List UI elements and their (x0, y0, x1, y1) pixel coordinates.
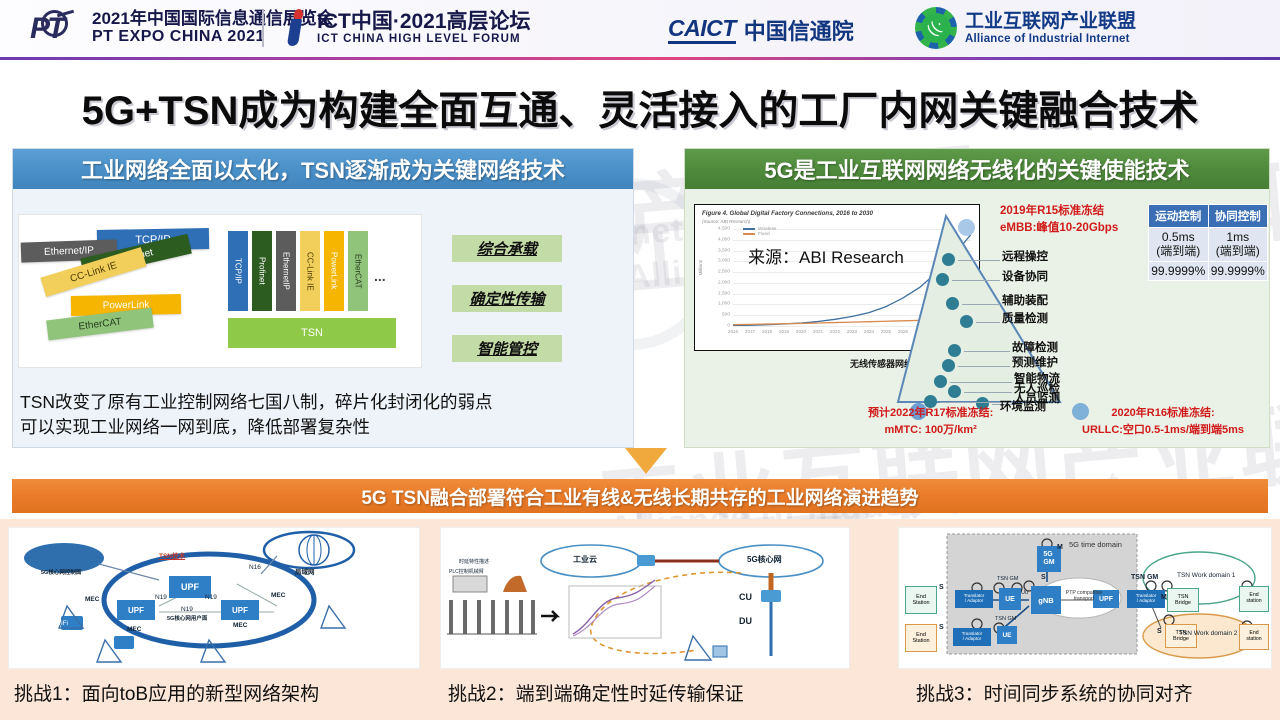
triangle-node-1 (942, 253, 955, 266)
stack-col-ellipsis: ... (374, 268, 386, 284)
chart-xtick: 2024 (864, 329, 874, 334)
chart-ytick: 1,500 (718, 291, 730, 296)
diagram-time-sync: 5GGM gNB UE UE UPF Translator/ Adaptor T… (898, 527, 1272, 669)
label-latency-profile: 时延特性描述 (459, 558, 489, 565)
stack-col-ethercat: EtherCAT (348, 231, 368, 311)
milestone-r16-line1: 2020年R16标准冻结: (1082, 405, 1244, 422)
node-translator-2: Translator/ Adaptor (953, 628, 991, 646)
triangle-node-8 (948, 385, 961, 398)
label-5g-time-domain: 5G time domain (1069, 540, 1122, 549)
triangle-node-apex (958, 219, 975, 236)
ict-forum-logo: ICT中国·2021高层论坛 ICT CHINA HIGH LEVEL FORU… (282, 8, 531, 48)
bottom-caption-2: 挑战2：端到端确定性时延传输保证 (448, 679, 744, 706)
label-uu: Uu (1021, 590, 1028, 596)
chart-subtitle: (Source: ABI Research) (702, 219, 750, 224)
label-ptp-transport: PTP compatibletransport (1059, 590, 1109, 602)
lead-line (958, 366, 1010, 367)
label-n19-b: N19 (205, 594, 217, 601)
milestone-r15-line2: eMBB:峰值10-20Gbps (1000, 220, 1118, 237)
ict-i-icon (282, 8, 308, 48)
chart-xtick: 2018 (762, 329, 772, 334)
aii-logo-cn: 工业互联网产业联盟 (965, 11, 1136, 33)
node-translator-1: Translator/ Adaptor (955, 590, 993, 608)
node-ue-2: UE (997, 626, 1017, 644)
use-case-assisted-assembly: 辅助装配 (1002, 292, 1048, 308)
feature-box-intelligent-management: 智能管控 (452, 335, 562, 362)
slide-root: 工业互联网产业联盟 Alliance of Industrial Interne… (0, 0, 1280, 720)
triangle-node-2 (936, 273, 949, 286)
label-slave-1: S (939, 584, 944, 591)
label-du: DU (739, 616, 752, 626)
feature-box-integrated-bearing: 综合承载 (452, 235, 562, 262)
ict-logo-line2: ICT CHINA HIGH LEVEL FORUM (317, 33, 531, 46)
label-5g-core: 5G核心网 (747, 554, 782, 565)
node-end-station-4: Endstation (1239, 624, 1269, 650)
chart-ytick: 4,500 (718, 227, 730, 232)
diagram-5g-upf-topology: UPF UPF UPF TSN技术 5G核心网控制面 5G核心网用户面 N19 … (8, 527, 420, 669)
label-tsn-gm-1: TSN GM (997, 576, 1018, 582)
chart-ytick: 0 (727, 324, 730, 329)
node-gnb: gNB (1031, 586, 1061, 614)
stack-col-cclink: CC-Link IE (300, 231, 320, 311)
label-wifi: WiFi (55, 620, 68, 627)
bottom-cell-3: 5GGM gNB UE UE UPF Translator/ Adaptor T… (860, 519, 1280, 720)
chart-ytick: 2,500 (718, 270, 730, 275)
label-slave-4: S (1157, 628, 1162, 635)
chart-ylabel: Millions (698, 260, 703, 275)
page-title: 5G+TSN成为构建全面互通、灵活接入的工厂内网关键融合技术 (0, 78, 1280, 136)
label-n16: N16 (249, 564, 261, 571)
use-case-fault-detection: 故障检测 (1012, 339, 1058, 355)
lead-line (964, 392, 1012, 393)
milestone-r17-line2: mMTC: 100万/km² (868, 422, 993, 439)
use-case-remote-control: 远程操控 (1002, 248, 1048, 264)
triangle-node-6 (942, 359, 955, 372)
legend-item-fixed: Fixed (758, 232, 770, 237)
lead-line (952, 280, 1000, 281)
bottom-caption-1: 挑战1：面向toB应用的新型网络架构 (14, 679, 319, 706)
bottom-cell-2: 工业云 5G核心网 CU DU PLC控制机械臂 时延特性描述 挑战2：端到端确… (430, 519, 860, 720)
chart-xtick: 2016 (728, 329, 738, 334)
label-industrial-cloud: 工业云 (573, 554, 597, 565)
caict-logo-cn: 中国信通院 (744, 14, 854, 46)
milestone-r16: 2020年R16标准冻结: URLLC:空口0.5-1ms/端到端5ms (1082, 405, 1244, 438)
lead-line (964, 351, 1010, 352)
triangle-node-5 (948, 344, 961, 357)
use-case-predictive-maint: 预测维护 (1012, 354, 1058, 370)
lead-line (958, 260, 1000, 261)
orange-banner: 5G TSN融合部署符合工业有线&无线长期共存的工业网络演进趋势 (12, 479, 1268, 513)
header-divider (262, 10, 264, 47)
chart-xtick: 2023 (847, 329, 857, 334)
node-end-station-2: EndStation (905, 624, 937, 652)
kpi-latency-motion: 0.5ms (端到端) (1149, 228, 1209, 262)
node-tsn-bridge-1: TSNBridge (1167, 588, 1199, 612)
bottom-cell-1: UPF UPF UPF TSN技术 5G核心网控制面 5G核心网用户面 N19 … (0, 519, 430, 720)
left-panel-note: TSN改变了原有工业控制网络七国八制，碎片化封闭化的弱点 可以实现工业网络一网到… (20, 390, 620, 441)
label-mec-2: MEC (127, 626, 141, 633)
milestone-r17: 预计2022年R17标准冻结: mMTC: 100万/km² (868, 405, 993, 438)
label-cu: CU (739, 592, 752, 602)
node-end-station-3: Endstation (1239, 586, 1269, 612)
pt-logo-icon: PT (30, 8, 82, 48)
table-row: 99.9999% 99.9999% (1149, 261, 1268, 280)
upf-node-right: UPF (221, 600, 259, 620)
triangle-node-3 (946, 297, 959, 310)
kpi-reliability-coop: 99.9999% (1208, 261, 1268, 280)
gear-icon: ((· (915, 7, 957, 49)
label-tsn-gm-3: TSN GM (1131, 574, 1158, 581)
left-note-line1: TSN改变了原有工业控制网络七国八制，碎片化封闭化的弱点 (20, 390, 620, 415)
chart-ytick: 3,000 (718, 259, 730, 264)
chart-xtick: 2022 (830, 329, 840, 334)
kpi-reliability-motion: 99.9999% (1149, 261, 1209, 280)
ict-logo-line1: ICT中国·2021高层论坛 (317, 11, 531, 33)
stack-col-tcpip: TCP/IP (228, 231, 248, 311)
slide-header: PT 2021年中国国际信息通信展览会 PT EXPO CHINA 2021 I… (0, 0, 1280, 57)
label-n19-c: N19 (181, 606, 193, 613)
label-slave-3: S (1041, 574, 1046, 581)
kpi-table: 运动控制 协同控制 0.5ms (端到端) 1ms (端到端) 99.9999%… (1148, 204, 1268, 281)
label-mec-3: MEC (233, 622, 247, 629)
table-header-row: 运动控制 协同控制 (1149, 205, 1268, 228)
pt-logo-mark: PT (30, 12, 62, 46)
label-mec-1: MEC (85, 596, 99, 603)
node-translator-3: Translator/ Adaptor (1127, 590, 1165, 608)
left-note-line2: 可以实现工业网络一网到底，降低部署复杂性 (20, 415, 620, 440)
down-arrow-icon (625, 448, 667, 474)
chart-xtick: 2020 (796, 329, 806, 334)
header-rule (0, 57, 1280, 60)
bottom-row: UPF UPF UPF TSN技术 5G核心网控制面 5G核心网用户面 N19 … (0, 519, 1280, 720)
stack-col-ethernetip: EthernetIP (276, 231, 296, 311)
diagram-deterministic-latency: 工业云 5G核心网 CU DU PLC控制机械臂 时延特性描述 (440, 527, 850, 669)
milestone-r17-line1: 预计2022年R17标准冻结: (868, 405, 993, 422)
label-n19-a: N19 (155, 594, 167, 601)
chart-xtick: 2021 (813, 329, 823, 334)
kpi-latency-coop: 1ms (端到端) (1208, 228, 1268, 262)
label-master-1: M (1057, 544, 1063, 551)
label-tsn-work-domain-1: TSN Work domain 1 (1177, 572, 1235, 579)
table-row: 0.5ms (端到端) 1ms (端到端) (1149, 228, 1268, 262)
lead-line (950, 382, 1012, 383)
triangle-node-4 (960, 315, 973, 328)
bottom-caption-3: 挑战3：时间同步系统的协同对齐 (916, 679, 1193, 706)
label-tsn-tech: TSN技术 (159, 550, 185, 560)
label-tsn-work-domain-2: TSN Work domain 2 (1179, 630, 1237, 637)
label-plc-robot: PLC控制机械臂 (449, 568, 484, 575)
milestone-r16-line2: URLLC:空口0.5-1ms/端到端5ms (1082, 422, 1244, 439)
aii-logo: ((· 工业互联网产业联盟 Alliance of Industrial Int… (915, 7, 1136, 49)
left-panel-title: 工业网络全面以太化，TSN逐渐成为关键网络技术 (13, 149, 633, 189)
chart-legend: Wireless Fixed (743, 227, 776, 237)
chart-ytick: 1,000 (718, 302, 730, 307)
label-tsn-gm-2: TSN GM (995, 616, 1016, 622)
chart-ytick: 2,000 (718, 280, 730, 285)
aii-logo-en: Alliance of Industrial Internet (965, 33, 1136, 45)
chart-xtick: 2019 (779, 329, 789, 334)
label-5gc-control-plane: 5G核心网控制面 (41, 568, 81, 576)
node-end-station-1: EndStation (905, 586, 937, 614)
caict-logo: CAICT 中国信通院 (668, 14, 854, 46)
chart-xtick: 2017 (745, 329, 755, 334)
use-case-device-coop: 设备协同 (1002, 268, 1048, 284)
chart-ytick: 500 (722, 313, 730, 318)
lead-line (962, 304, 1000, 305)
use-case-environment-monitor: 环境监测 (1000, 398, 1046, 414)
chart-ytick: 3,500 (718, 248, 730, 253)
label-lan: 局域网 (295, 566, 315, 576)
chart-title: Figure 4. Global Digital Factory Connect… (702, 210, 873, 217)
tsn-stack-columns: TCP/IP Profinet EthernetIP CC-Link IE Po… (224, 223, 414, 359)
protocol-stack-image: TCP/IP Ethernet/IP Profinet CC-Link IE P… (18, 214, 422, 368)
chart-ytick: 4,000 (718, 237, 730, 242)
label-mec-4: MEC (271, 592, 285, 599)
kpi-header-motion-control: 运动控制 (1149, 205, 1209, 228)
triangle-node-7 (934, 375, 947, 388)
stack-col-profinet: Profinet (252, 231, 272, 311)
lead-line (976, 322, 1000, 323)
label-slave-2: S (939, 624, 944, 631)
stack-col-powerlink: PowerLink (324, 231, 344, 311)
node-ue-1: UE (999, 588, 1021, 610)
upf-node-left: UPF (117, 600, 155, 620)
stack-base-tsn: TSN (228, 318, 396, 348)
milestone-r15-line1: 2019年R15标准冻结 (1000, 203, 1118, 220)
caict-logo-en: CAICT (668, 17, 736, 44)
label-5gc-user-plane: 5G核心网用户面 (167, 614, 207, 622)
label-master-2: M (1161, 594, 1167, 601)
right-panel-title: 5G是工业互联网网络无线化的关键使能技术 (685, 149, 1269, 189)
feature-box-deterministic-transport: 确定性传输 (452, 285, 562, 312)
milestone-r15: 2019年R15标准冻结 eMBB:峰值10-20Gbps (1000, 203, 1118, 238)
use-case-quality-inspection: 质量检测 (1002, 310, 1048, 326)
kpi-header-coop-control: 协同控制 (1208, 205, 1268, 228)
